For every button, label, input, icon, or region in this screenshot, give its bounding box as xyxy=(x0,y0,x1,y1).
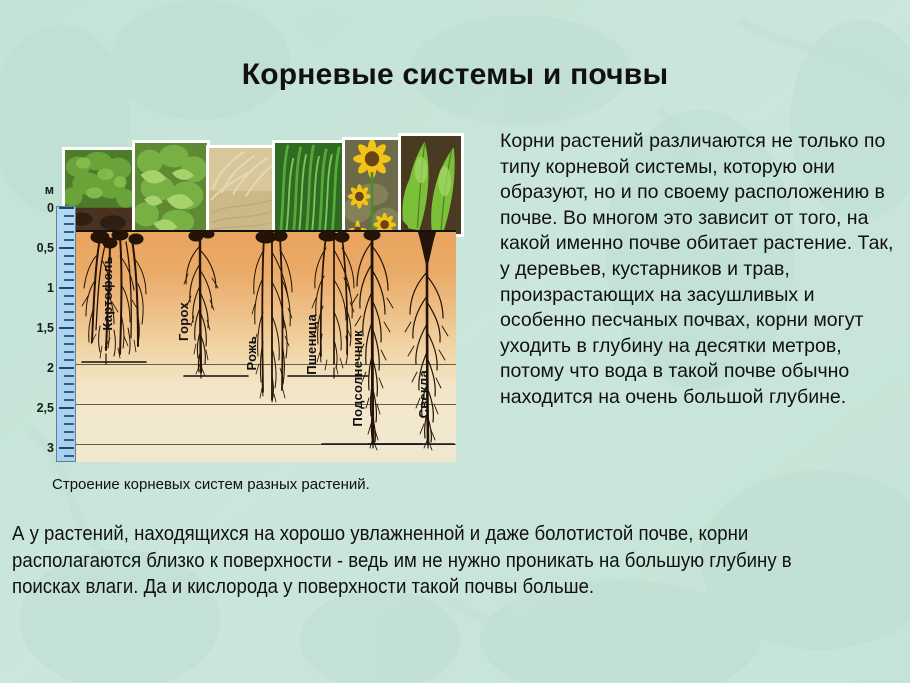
pea-root-icon xyxy=(184,230,248,378)
page-title: Корневые системы и почвы xyxy=(0,58,910,92)
rye-root-icon xyxy=(252,231,292,402)
scale-label-2-5: 2,5 xyxy=(26,401,54,415)
plant-label-beet: Свекла xyxy=(416,370,431,418)
sunflower-plant-photo xyxy=(342,137,402,237)
scale-label-0-5: 0,5 xyxy=(26,241,54,255)
depth-ruler xyxy=(56,206,76,462)
soil-profile: Картофель Горох Рожь Пшеница Подсолнечни… xyxy=(76,230,456,462)
slide-content: Корневые системы и почвы Корни растений … xyxy=(0,0,910,683)
scale-label-0: 0 xyxy=(26,201,54,215)
depth-scale-labels: м 0 0,5 1 1,5 2 2,5 3 xyxy=(24,206,54,466)
scale-label-3: 3 xyxy=(26,441,54,455)
sunflower-root-icon xyxy=(322,230,422,450)
wheat-plant-icon xyxy=(275,143,343,234)
rye-plant-icon xyxy=(209,148,273,234)
beet-plant-photo xyxy=(398,133,464,237)
plant-photo-strip xyxy=(62,126,466,237)
plant-label-pea: Горох xyxy=(176,302,191,341)
plant-label-wheat: Пшеница xyxy=(304,314,319,375)
rye-plant-photo xyxy=(206,145,276,237)
wheat-plant-photo xyxy=(272,140,346,237)
plant-label-rye: Рожь xyxy=(244,336,259,371)
right-body-text: Корни растений различаются не только по … xyxy=(500,129,904,411)
pea-plant-icon xyxy=(135,143,207,234)
beet-plant-icon xyxy=(401,136,461,234)
plant-label-potato: Картофель xyxy=(100,256,115,331)
scale-label-1-5: 1,5 xyxy=(26,321,54,335)
scale-unit-label: м xyxy=(26,183,54,197)
bottom-body-text: А у растений, находящихся на хорошо увла… xyxy=(12,521,836,601)
scale-label-2: 2 xyxy=(26,361,54,375)
scale-label-1: 1 xyxy=(26,281,54,295)
root-systems-illustration xyxy=(76,230,456,462)
pea-plant-photo xyxy=(132,140,210,237)
figure-caption: Строение корневых систем разных растений… xyxy=(52,476,370,493)
root-systems-figure: м 0 0,5 1 1,5 2 2,5 3 xyxy=(24,126,474,466)
sunflower-plant-icon xyxy=(345,140,399,234)
plant-label-sunflower: Подсолнечник xyxy=(350,330,365,427)
